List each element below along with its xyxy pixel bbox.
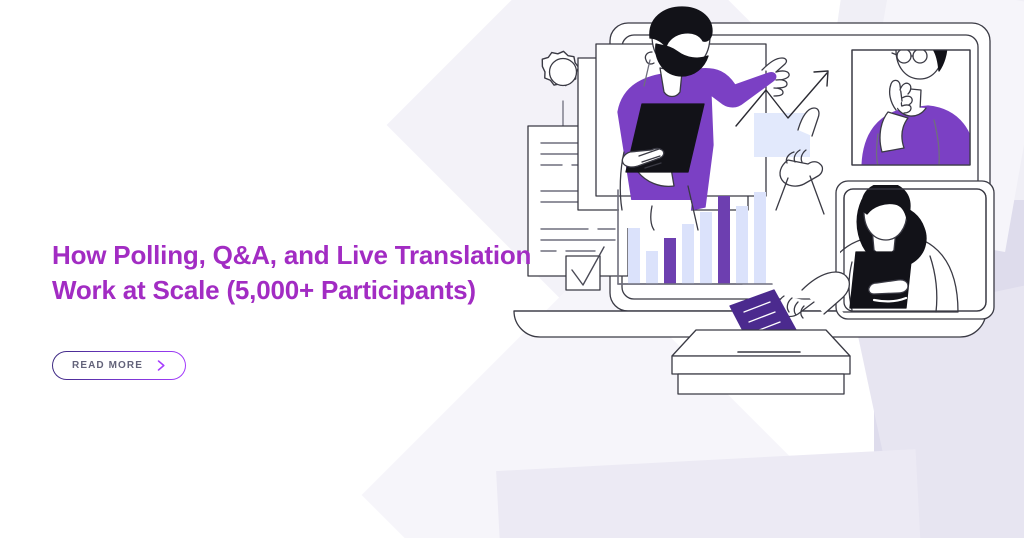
hero-banner: How Polling, Q&A, and Live Translation W… (0, 0, 1024, 538)
person-tablet-icon (818, 181, 994, 319)
page-title: How Polling, Q&A, and Live Translation W… (52, 238, 552, 307)
page-title-line-2: Work at Scale (5,000+ Participants) (52, 275, 476, 305)
bar-4 (682, 224, 694, 284)
bar-3 (664, 238, 676, 284)
page-title-line-1: How Polling, Q&A, and Live Translation (52, 240, 531, 270)
hero-text-column: How Polling, Q&A, and Live Translation W… (52, 238, 552, 380)
read-more-label: READ MORE (72, 360, 143, 371)
bar-1 (628, 228, 640, 284)
virtual-event-polling-illustration (500, 0, 1024, 538)
chevron-right-icon (157, 360, 166, 371)
bar-6 (718, 196, 730, 284)
read-more-button[interactable]: READ MORE (52, 351, 186, 380)
bar-5 (700, 212, 712, 284)
bar-7 (736, 206, 748, 284)
bar-8 (754, 192, 766, 284)
bar-2 (646, 251, 658, 284)
